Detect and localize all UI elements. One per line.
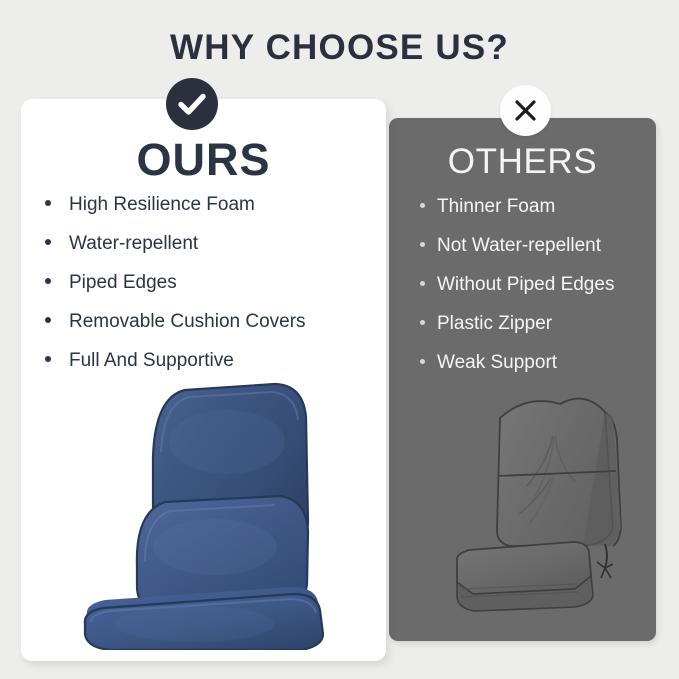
feature-label: Water-repellent xyxy=(69,233,198,255)
bullet-icon xyxy=(45,239,51,245)
feature-label: Thinner Foam xyxy=(437,196,555,218)
x-circle-icon xyxy=(500,85,551,136)
bullet-icon xyxy=(420,281,425,286)
feature-label: Piped Edges xyxy=(69,272,177,294)
list-item: High Resilience Foam xyxy=(45,194,375,233)
bullet-icon xyxy=(45,317,51,323)
feature-label: High Resilience Foam xyxy=(69,194,255,216)
ours-feature-list: High Resilience Foam Water-repellent Pip… xyxy=(45,194,375,389)
ours-heading: OURS xyxy=(21,134,386,186)
feature-label: Without Piped Edges xyxy=(437,274,614,296)
feature-label: Removable Cushion Covers xyxy=(69,311,306,333)
bullet-icon xyxy=(45,200,51,206)
ours-product-image xyxy=(75,372,355,650)
page-title: WHY CHOOSE US? xyxy=(0,28,679,68)
bullet-icon xyxy=(420,320,425,325)
list-item: Piped Edges xyxy=(45,272,375,311)
bullet-icon xyxy=(420,203,425,208)
list-item: Plastic Zipper xyxy=(420,313,660,352)
feature-label: Full And Supportive xyxy=(69,350,234,372)
others-feature-list: Thinner Foam Not Water-repellent Without… xyxy=(420,196,660,391)
list-item: Without Piped Edges xyxy=(420,274,660,313)
list-item: Removable Cushion Covers xyxy=(45,311,375,350)
feature-label: Plastic Zipper xyxy=(437,313,552,335)
feature-label: Not Water-repellent xyxy=(437,235,601,257)
check-circle-icon xyxy=(166,78,218,130)
bullet-icon xyxy=(420,359,425,364)
others-heading: OTHERS xyxy=(389,142,656,182)
list-item: Not Water-repellent xyxy=(420,235,660,274)
bullet-icon xyxy=(420,242,425,247)
bullet-icon xyxy=(45,278,51,284)
others-product-image xyxy=(455,378,670,628)
list-item: Thinner Foam xyxy=(420,196,660,235)
comparison-infographic: WHY CHOOSE US? xyxy=(0,0,679,679)
list-item: Full And Supportive xyxy=(45,350,375,389)
list-item: Weak Support xyxy=(420,352,660,391)
bullet-icon xyxy=(45,356,51,362)
feature-label: Weak Support xyxy=(437,352,557,374)
list-item: Water-repellent xyxy=(45,233,375,272)
